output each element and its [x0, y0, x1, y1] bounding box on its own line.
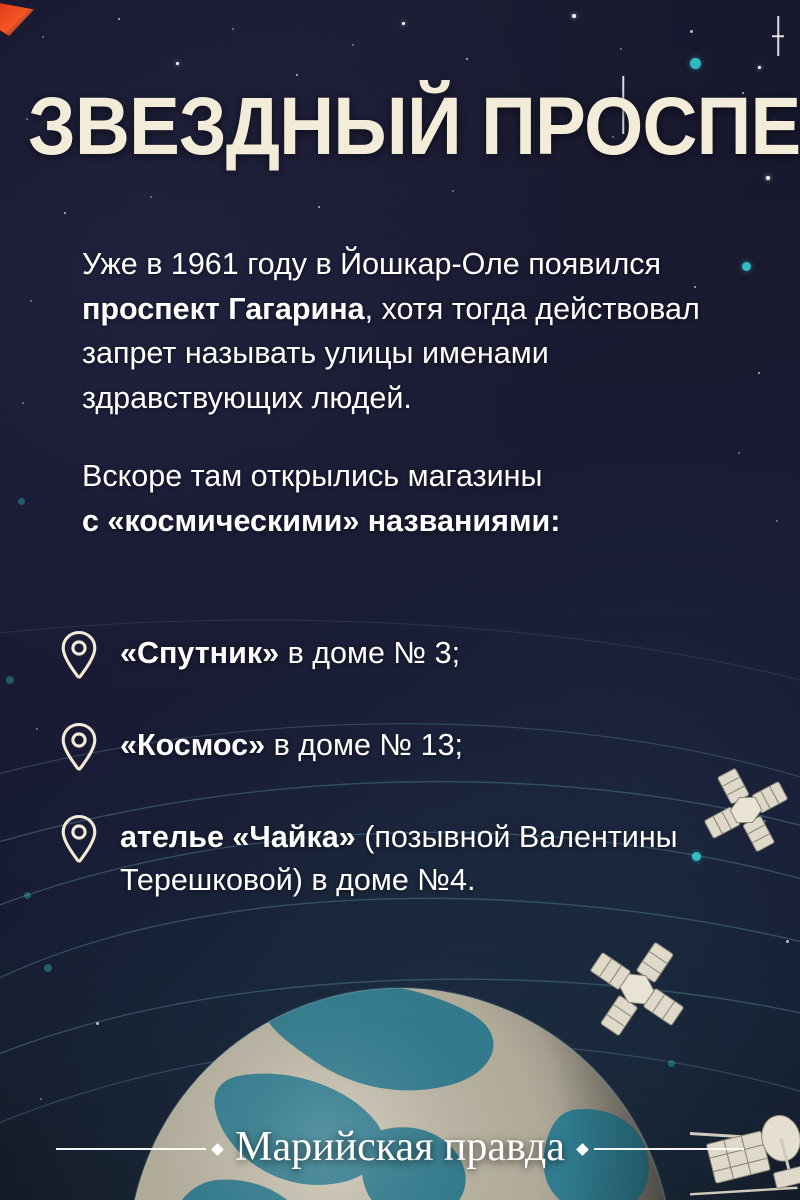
store-address: в доме № 3; — [279, 636, 460, 670]
page-title: ЗВЕЗДНЫЙ ПРОСПЕКТ — [28, 88, 772, 167]
nebula-glow — [0, 0, 800, 1200]
star — [776, 520, 778, 522]
paragraph-1: Уже в 1961 году в Йошкар-Оле появился пр… — [82, 242, 722, 420]
list-item: «Космос» в доме № 13; — [60, 720, 776, 772]
teal-star — [668, 1060, 675, 1067]
teal-star — [742, 262, 751, 271]
paragraph-1-part-1: Уже в 1961 году в Йошкар-Оле появился — [82, 247, 661, 281]
star — [352, 44, 354, 46]
store-address: в доме № 13; — [265, 728, 463, 762]
map-pin-icon — [60, 814, 98, 864]
star — [766, 176, 770, 180]
orbit-arcs — [0, 0, 800, 1200]
store-list: «Спутник» в доме № 3; «Космос» в доме № … — [60, 628, 776, 903]
star — [64, 212, 66, 214]
list-item-text: ателье «Чайка» (позывной Валентины Тереш… — [120, 812, 776, 903]
star — [690, 30, 693, 33]
logo-rule-right — [594, 1148, 744, 1150]
star — [402, 22, 405, 25]
paragraph-2: Вскоре там открылись магазины с «космиче… — [82, 454, 722, 543]
star — [22, 402, 24, 404]
list-item-text: «Космос» в доме № 13; — [120, 720, 463, 767]
teal-star — [24, 892, 31, 899]
map-pin-icon — [60, 722, 98, 772]
logo-diamond-right-icon — [576, 1143, 589, 1156]
infographic-poster: ЗВЕЗДНЫЙ ПРОСПЕКТ Уже в 1961 году в Йошк… — [0, 0, 800, 1200]
store-name: «Спутник» — [120, 636, 279, 670]
rocket-flame-icon — [0, 2, 34, 36]
star — [40, 1098, 42, 1100]
logo-diamond-left-icon — [211, 1143, 224, 1156]
paragraph-2-line-2: с «космическими» названиями: — [82, 499, 722, 544]
paragraph-2-line-1: Вскоре там открылись магазины — [82, 459, 542, 493]
star — [36, 728, 38, 730]
teal-star — [18, 498, 25, 505]
star — [758, 372, 760, 374]
teal-star — [690, 58, 701, 69]
star — [296, 74, 298, 76]
star — [150, 196, 152, 198]
store-name: «Космос» — [120, 728, 265, 762]
body-copy: Уже в 1961 году в Йошкар-Оле появился пр… — [82, 242, 722, 543]
starfield — [0, 0, 800, 1200]
star — [452, 190, 454, 192]
star — [176, 62, 179, 65]
footer-logo: Марийская правда — [0, 1126, 800, 1172]
teal-star — [6, 676, 14, 684]
star — [466, 58, 468, 60]
list-item-text: «Спутник» в доме № 3; — [120, 628, 460, 675]
map-pin-icon — [60, 630, 98, 680]
star — [572, 14, 576, 18]
logo-rule-left — [56, 1148, 206, 1150]
paragraph-1-bold: проспект Гагарина — [82, 292, 365, 326]
store-name: ателье «Чайка» — [120, 820, 356, 854]
star — [318, 206, 320, 208]
star — [786, 940, 789, 943]
star — [118, 18, 120, 20]
star — [42, 36, 44, 38]
star — [738, 452, 740, 454]
star — [96, 1022, 99, 1025]
list-item: «Спутник» в доме № 3; — [60, 628, 776, 680]
brand-name: Марийская правда — [229, 1126, 571, 1172]
satellite-icon — [578, 930, 696, 1048]
paragraph-spacer — [82, 420, 722, 454]
star-glint-icon — [772, 16, 784, 56]
list-item: ателье «Чайка» (позывной Валентины Тереш… — [60, 812, 776, 903]
star — [30, 300, 32, 302]
star — [758, 66, 761, 69]
star — [620, 48, 622, 50]
teal-star — [44, 964, 52, 972]
star — [232, 28, 234, 30]
